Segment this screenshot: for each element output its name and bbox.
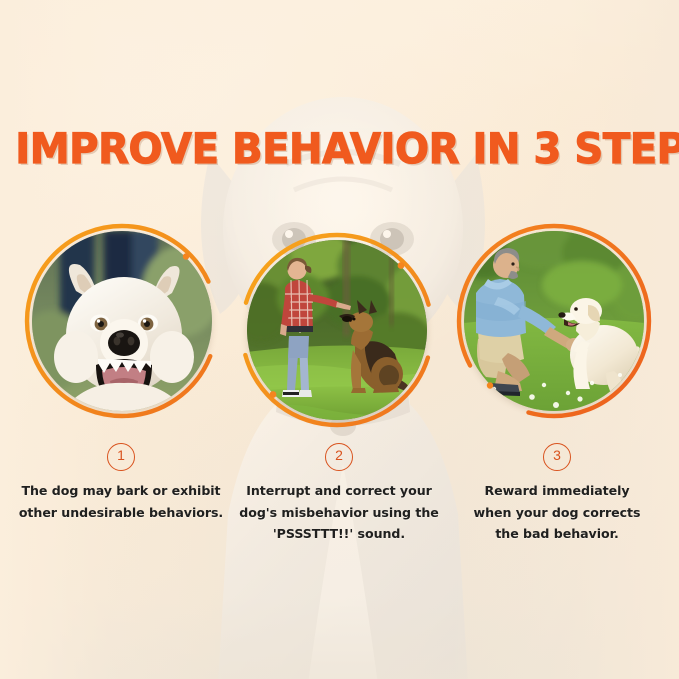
- step-number-badge-1: 1: [107, 443, 135, 471]
- step-block-3: 3 Reward immediately when your dog corre…: [444, 443, 670, 545]
- step-number-badge-3: 3: [543, 443, 571, 471]
- step-caption-2: Interrupt and correct your dog's misbeha…: [226, 480, 452, 545]
- step-ring-3: [454, 221, 654, 421]
- page-title: IMPROVE BEHAVIOR IN 3 STEPS: [15, 126, 663, 172]
- step-block-2: 2 Interrupt and correct your dog's misbe…: [226, 443, 452, 545]
- infographic-poster: IMPROVE BEHAVIOR IN 3 STEPS: [0, 0, 679, 679]
- step-photo-2: [237, 230, 437, 430]
- step-ring-1: [22, 221, 222, 421]
- step-caption-3: Reward immediately when your dog correct…: [444, 480, 670, 545]
- step-ring-2: [237, 230, 437, 430]
- step-photo-1: [22, 221, 222, 421]
- step-block-1: 1 The dog may bark or exhibit other unde…: [8, 443, 234, 523]
- step-number-badge-2: 2: [325, 443, 353, 471]
- step-photo-3: [454, 221, 654, 421]
- step-caption-1: The dog may bark or exhibit other undesi…: [8, 480, 234, 523]
